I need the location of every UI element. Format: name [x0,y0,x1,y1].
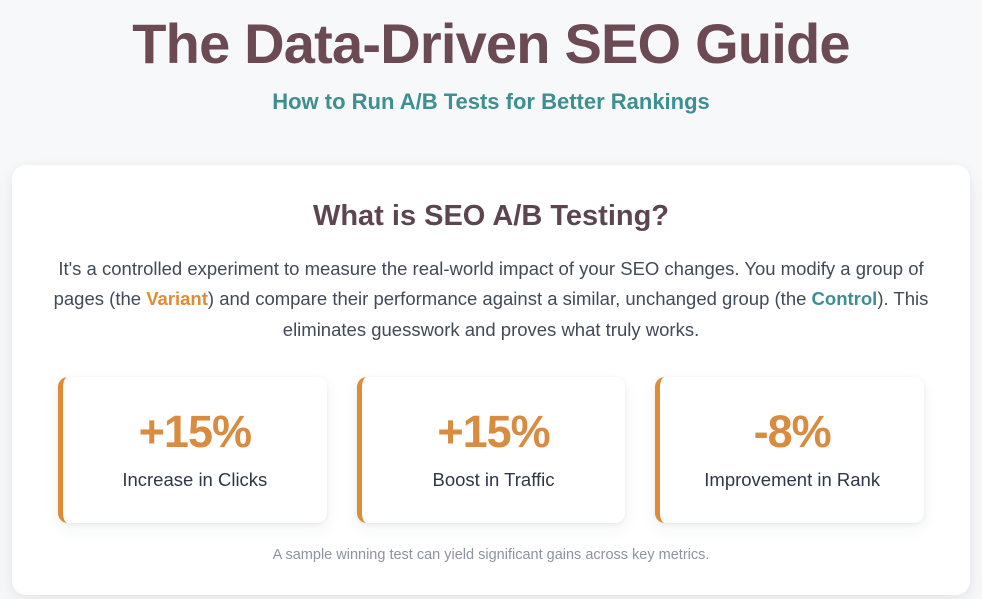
variant-term: Variant [146,288,208,309]
stat-card-traffic: +15% Boost in Traffic [357,377,626,523]
page-root: The Data-Driven SEO Guide How to Run A/B… [0,0,982,599]
content-card: What is SEO A/B Testing? It's a controll… [12,165,970,596]
stat-value-rank: -8% [754,408,831,455]
control-term: Control [812,288,878,309]
stat-value-clicks: +15% [139,408,251,455]
body-text-part-2: ) and compare their performance against … [208,288,812,309]
section-heading: What is SEO A/B Testing? [38,199,944,234]
stats-caption: A sample winning test can yield signific… [38,545,944,565]
stats-row: +15% Increase in Clicks +15% Boost in Tr… [38,377,944,523]
stat-label-clicks: Increase in Clicks [122,468,267,492]
stat-label-traffic: Boost in Traffic [432,468,554,492]
stat-value-traffic: +15% [437,408,549,455]
stat-card-rank: -8% Improvement in Rank [655,377,924,523]
page-title: The Data-Driven SEO Guide [0,12,982,77]
page-subtitle: How to Run A/B Tests for Better Rankings [0,88,982,117]
section-body-paragraph: It's a controlled experiment to measure … [41,254,941,344]
stat-label-rank: Improvement in Rank [704,468,880,492]
page-header: The Data-Driven SEO Guide How to Run A/B… [0,0,982,117]
stat-card-clicks: +15% Increase in Clicks [58,377,327,523]
